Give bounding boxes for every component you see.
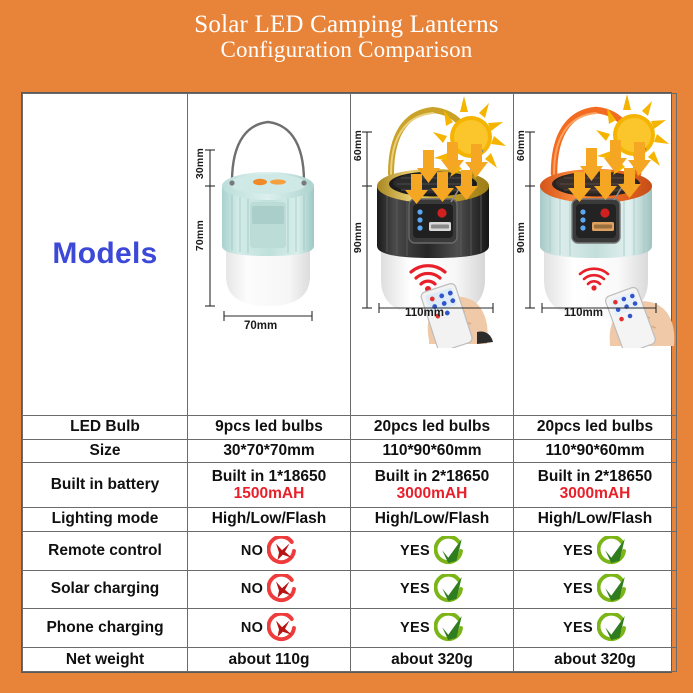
table-row: Lighting modeHigh/Low/FlashHigh/Low/Flas… — [23, 507, 677, 531]
row-label-4: Remote control — [23, 531, 188, 570]
dim-label-width-1: 70mm — [244, 320, 277, 332]
cell-r5-c1: YES — [351, 570, 514, 609]
yesno-text: NO — [241, 543, 263, 559]
title-line-1: Solar LED Camping Lanterns — [0, 12, 693, 38]
row-label-5: Solar charging — [23, 570, 188, 609]
product-cell-2: 60mm 90mm 110mm — [351, 94, 514, 416]
yesno-text: YES — [400, 620, 430, 636]
row-label-0: LED Bulb — [23, 415, 188, 439]
table-row: Remote controlNOYESYES — [23, 531, 677, 570]
red-cross-icon — [267, 613, 297, 643]
cell-r7-c0: about 110g — [188, 648, 351, 672]
cell-r7-c1: about 320g — [351, 648, 514, 672]
cell-r0-c2: 20pcs led bulbs — [514, 415, 677, 439]
cell-r0-c0: 9pcs led bulbs — [188, 415, 351, 439]
row-label-1: Size — [23, 439, 188, 463]
yesno-text: NO — [241, 581, 263, 597]
dim-label-bottom-3: 90mm — [515, 222, 527, 253]
spec-rows-body: LED Bulb9pcs led bulbs20pcs led bulbs20p… — [23, 415, 677, 671]
yesno-text: YES — [563, 581, 593, 597]
table-row: Built in batteryBuilt in 1*186501500mAHB… — [23, 463, 677, 508]
table-row: Phone chargingNOYESYES — [23, 609, 677, 648]
battery-main: Built in 2*18650 — [375, 468, 490, 485]
cell-r7-c2: about 320g — [514, 648, 677, 672]
red-cross-icon — [267, 536, 297, 566]
cell-r6-c0: NO — [188, 609, 351, 648]
product-cell-1: 30mm 70mm 70mm — [188, 94, 351, 416]
yesno-text: YES — [563, 543, 593, 559]
cell-r3-c1: High/Low/Flash — [351, 507, 514, 531]
table-row: LED Bulb9pcs led bulbs20pcs led bulbs20p… — [23, 415, 677, 439]
showcase-row: Models — [23, 94, 677, 416]
product-cell-3: 60mm 90mm 110mm — [514, 94, 677, 416]
green-check-icon — [597, 613, 627, 643]
green-check-icon — [434, 613, 464, 643]
page-title: Solar LED Camping Lanterns Configuration… — [0, 12, 693, 61]
battery-capacity: 1500mAH — [188, 485, 350, 502]
dim-label-width-3: 110mm — [564, 307, 603, 319]
comparison-table: Models — [22, 93, 677, 672]
cell-r5-c0: NO — [188, 570, 351, 609]
table-row: Size30*70*70mm110*90*60mm110*90*60mm — [23, 439, 677, 463]
models-label: Models — [52, 237, 157, 270]
green-check-icon — [434, 536, 464, 566]
table-row: Net weightabout 110gabout 320gabout 320g — [23, 648, 677, 672]
green-check-icon — [597, 574, 627, 604]
row-label-6: Phone charging — [23, 609, 188, 648]
yesno-text: YES — [400, 581, 430, 597]
cell-r4-c2: YES — [514, 531, 677, 570]
yesno-text: YES — [563, 620, 593, 636]
dim-label-bottom-1: 70mm — [194, 220, 206, 251]
yesno-text: NO — [241, 620, 263, 636]
green-check-icon — [434, 574, 464, 604]
cell-r3-c0: High/Low/Flash — [188, 507, 351, 531]
comparison-table-frame: Models — [21, 92, 672, 673]
row-label-7: Net weight — [23, 648, 188, 672]
green-check-icon — [597, 536, 627, 566]
dim-label-top-1: 30mm — [194, 148, 206, 179]
battery-main: Built in 2*18650 — [538, 468, 653, 485]
battery-capacity: 3000mAH — [514, 485, 676, 502]
cell-r2-c0: Built in 1*186501500mAH — [188, 463, 351, 508]
dim-label-top-3: 60mm — [515, 130, 527, 161]
cell-r6-c2: YES — [514, 609, 677, 648]
cell-r1-c0: 30*70*70mm — [188, 439, 351, 463]
cell-r2-c1: Built in 2*186503000mAH — [351, 463, 514, 508]
cell-r0-c1: 20pcs led bulbs — [351, 415, 514, 439]
battery-main: Built in 1*18650 — [212, 468, 327, 485]
table-row: Solar chargingNOYESYES — [23, 570, 677, 609]
infographic-page: Solar LED Camping Lanterns Configuration… — [0, 0, 693, 693]
cell-r1-c2: 110*90*60mm — [514, 439, 677, 463]
cell-r4-c1: YES — [351, 531, 514, 570]
yesno-text: YES — [400, 543, 430, 559]
cell-r5-c2: YES — [514, 570, 677, 609]
cell-r3-c2: High/Low/Flash — [514, 507, 677, 531]
cell-r1-c1: 110*90*60mm — [351, 439, 514, 463]
row-label-3: Lighting mode — [23, 507, 188, 531]
dim-label-bottom-2: 90mm — [352, 222, 364, 253]
mint-lantern-dimension-lines — [188, 94, 350, 348]
cell-r4-c0: NO — [188, 531, 351, 570]
red-cross-icon — [267, 574, 297, 604]
cell-r6-c1: YES — [351, 609, 514, 648]
models-cell: Models — [23, 94, 188, 416]
row-label-2: Built in battery — [23, 463, 188, 508]
battery-capacity: 3000mAH — [351, 485, 513, 502]
cell-r2-c2: Built in 2*186503000mAH — [514, 463, 677, 508]
dim-label-top-2: 60mm — [352, 130, 364, 161]
title-line-2: Configuration Comparison — [0, 38, 693, 61]
dim-label-width-2: 110mm — [405, 307, 444, 319]
